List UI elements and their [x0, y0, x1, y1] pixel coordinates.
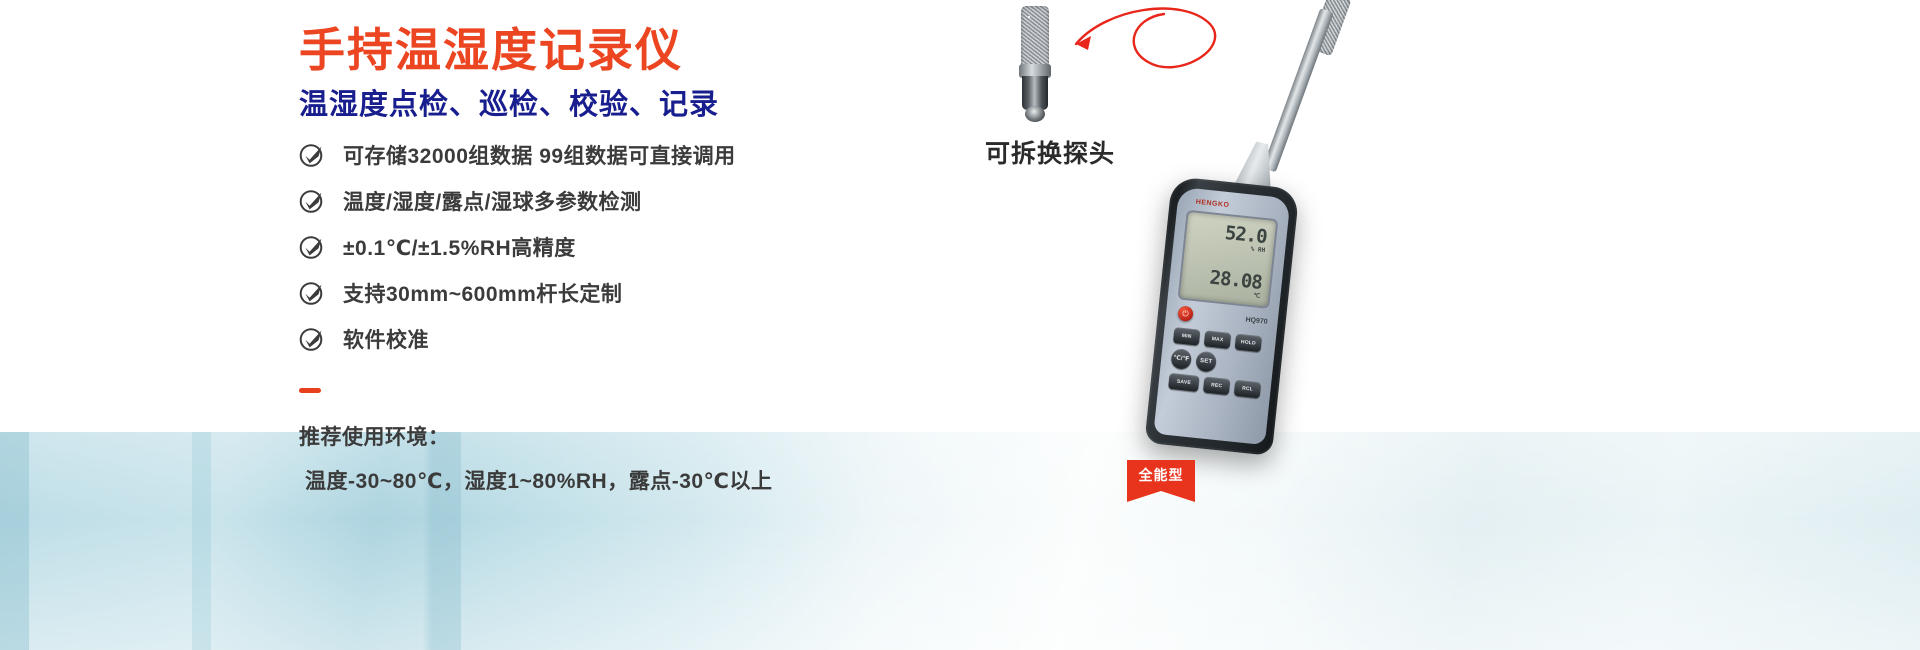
humidity-reading: 52.0 % RH: [1223, 224, 1267, 254]
temperature-reading: 28.08 ℃: [1208, 269, 1263, 300]
lcd-display: 52.0 % RH 28.08 ℃: [1180, 212, 1277, 307]
device-front-panel: HENGKO 52.0 % RH 28.08 ℃ ⏻ HQ970 MIN: [1153, 187, 1290, 445]
list-item-label: 温度/湿度/露点/湿球多参数检测: [343, 186, 642, 216]
list-item: 支持30mm~600mm杆长定制: [299, 270, 1059, 316]
list-item-label: ±0.1℃/±1.5%RH高精度: [343, 232, 576, 262]
status-badge: 全能型: [1127, 460, 1195, 491]
check-circle-icon: [299, 326, 325, 352]
environment-block: 推荐使用环境： 温度-30~80℃，湿度1~80%RH，露点-30℃以上: [299, 421, 773, 495]
check-circle-icon: [299, 280, 325, 306]
key-save[interactable]: SAVE: [1168, 373, 1200, 392]
power-icon[interactable]: ⏻: [1177, 305, 1193, 321]
thermo-hygrometer-image: HENGKO 52.0 % RH 28.08 ℃ ⏻ HQ970 MIN: [1080, 0, 1400, 512]
keypad: MIN MAX HOLD ℃/℉ SET SAVE REC RCL: [1168, 327, 1266, 403]
product-banner: 手持温湿度记录仪 温湿度点检、巡检、校验、记录 可存储32000组数据 99组数…: [0, 0, 1920, 650]
probe-mesh-filter: [1021, 6, 1049, 68]
list-item: 可存储32000组数据 99组数据可直接调用: [299, 132, 1059, 178]
banner-subtitle: 温湿度点检、巡检、校验、记录: [299, 81, 719, 123]
device-body: HENGKO 52.0 % RH 28.08 ℃ ⏻ HQ970 MIN: [1144, 176, 1299, 456]
key-max[interactable]: MAX: [1204, 330, 1232, 349]
list-item: 软件校准: [299, 316, 1059, 362]
probe-shaft: [1262, 8, 1333, 173]
check-circle-icon: [299, 188, 325, 214]
device-model-label: HQ970: [1245, 317, 1268, 326]
section-marker: [299, 388, 321, 393]
detachable-probe-image: [1013, 6, 1059, 124]
key-set[interactable]: SET: [1195, 351, 1217, 373]
list-item-label: 软件校准: [343, 324, 429, 354]
check-circle-icon: [299, 234, 325, 260]
feature-list: 可存储32000组数据 99组数据可直接调用 温度/湿度/露点/湿球多参数检测 …: [299, 132, 1059, 362]
list-item-label: 可存储32000组数据 99组数据可直接调用: [343, 140, 736, 170]
key-hold[interactable]: HOLD: [1235, 334, 1263, 353]
banner-title: 手持温湿度记录仪: [299, 14, 683, 80]
probe-connector: [1025, 106, 1045, 122]
check-circle-icon: [299, 142, 325, 168]
environment-detail: 温度-30~80℃，湿度1~80%RH，露点-30℃以上: [299, 465, 773, 495]
brand-logo: HENGKO: [1195, 199, 1229, 209]
background-bottom-photo: [0, 432, 1920, 650]
key-rec[interactable]: REC: [1203, 377, 1231, 396]
key-recall[interactable]: RCL: [1234, 380, 1262, 399]
key-min[interactable]: MIN: [1173, 327, 1201, 346]
key-unit-toggle[interactable]: ℃/℉: [1170, 348, 1192, 370]
list-item: ±0.1℃/±1.5%RH高精度: [299, 224, 1059, 270]
environment-heading: 推荐使用环境：: [299, 421, 773, 451]
humidity-value: 52.0: [1224, 222, 1268, 248]
list-item-label: 支持30mm~600mm杆长定制: [343, 278, 622, 308]
list-item: 温度/湿度/露点/湿球多参数检测: [299, 178, 1059, 224]
probe-barrel: [1022, 76, 1048, 110]
